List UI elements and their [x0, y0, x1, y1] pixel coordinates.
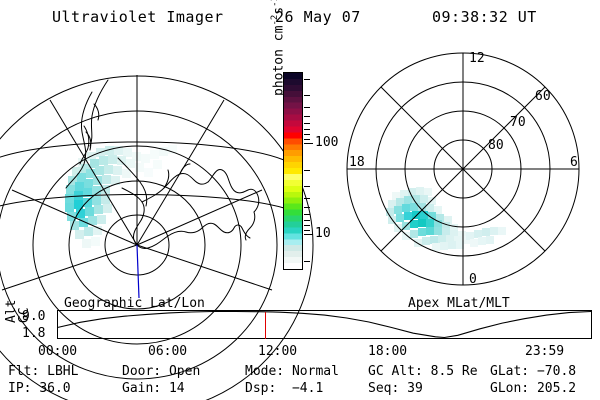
header-bar: Ultraviolet Imager 26 May 07 09:38:32 UT	[0, 8, 600, 32]
geographic-projection	[22, 40, 272, 298]
mlt-label-6: 6	[570, 155, 578, 170]
gc-alt-label-bottom: Alt	[4, 300, 19, 323]
current-time-marker	[265, 312, 266, 339]
colorbar-minor-tick	[304, 134, 310, 135]
colorbar-axis-sym: s	[271, 7, 286, 15]
colorbar-minor-tick	[304, 116, 310, 117]
status-row-1: Flt: LBHL Door: Open Mode: Normal GC Alt…	[0, 364, 600, 381]
colorbar-minor-tick	[304, 107, 310, 108]
time-tick-1: 06:00	[148, 344, 187, 359]
status-seq: Seq: 39	[368, 381, 423, 396]
status-dsp: Dsp: −4.1	[245, 381, 323, 396]
aurora-emission-mlt	[386, 187, 506, 251]
colorbar-minor-tick	[304, 261, 310, 262]
colorbar-minor-tick	[304, 129, 310, 130]
colorbar-minor-tick	[304, 230, 310, 231]
observation-date: 26 May 07	[275, 8, 361, 26]
colorbar-minor-tick	[304, 207, 310, 208]
observation-time: 09:38:32 UT	[432, 8, 537, 26]
mlt-label-0: 0	[469, 272, 477, 287]
status-gc-alt: GC Alt: 8.5 Re	[368, 364, 478, 379]
status-door: Door: Open	[122, 364, 200, 379]
mlt-polar-plot: 12 18 6 0 60 70 80	[332, 40, 594, 298]
mlt-label-18: 18	[349, 155, 365, 170]
colorbar-label-10: 10	[315, 227, 331, 240]
mlat-ring-label-70: 70	[510, 115, 526, 130]
geographic-image-panel[interactable]	[22, 40, 272, 298]
time-tick-2: 12:00	[258, 344, 297, 359]
colorbar-axis-exp1: -2	[270, 15, 280, 26]
status-mode: Mode: Normal	[245, 364, 339, 379]
gc-alt-tick-high: 9.0	[22, 309, 45, 324]
status-ip: IP: 36.0	[8, 381, 71, 396]
status-glon: GLon: 205.2	[490, 381, 576, 396]
altitude-curve	[58, 311, 591, 338]
left-panel-caption: Geographic Lat/Lon	[64, 296, 205, 311]
right-panel-caption: Apex MLat/MLT	[408, 296, 510, 311]
colorbar-gradient-box	[283, 72, 303, 270]
apex-mlt-dial-panel[interactable]: 12 18 6 0 60 70 80	[332, 40, 594, 298]
colorbar-minor-tick	[304, 220, 310, 221]
time-tick-4: 23:59	[525, 344, 564, 359]
colorbar-minor-tick	[304, 186, 310, 187]
colorbar-minor-tick	[304, 123, 310, 124]
colorbar-minor-tick	[304, 225, 310, 226]
gc-alt-tick-low: 1.8	[22, 326, 45, 341]
colorbar-minor-tick	[304, 95, 310, 96]
colorbar-gradient	[284, 73, 302, 269]
status-row-2: IP: 36.0 Gain: 14 Dsp: −4.1 Seq: 39 GLon…	[0, 381, 600, 398]
colorbar-axis-exp2: -1	[270, 0, 280, 7]
gc-alt-axis-label: GC Alt	[4, 306, 22, 340]
mlt-grid	[347, 53, 579, 285]
colorbar-minor-tick	[304, 139, 310, 140]
instrument-title: Ultraviolet Imager	[52, 8, 224, 26]
mlt-label-12: 12	[469, 51, 485, 66]
colorbar-minor-tick	[304, 234, 310, 235]
orbit-plot-box	[57, 310, 592, 339]
status-footer: Flt: LBHL Door: Open Mode: Normal GC Alt…	[0, 364, 600, 400]
colorbar[interactable]: photon cm-2s-1 100 10	[278, 40, 334, 298]
orbit-time-axis: 00:00 06:00 12:00 18:00 23:59	[0, 344, 600, 360]
time-tick-3: 18:00	[368, 344, 407, 359]
time-tick-0: 00:00	[38, 344, 77, 359]
colorbar-minor-tick	[304, 79, 310, 80]
colorbar-minor-tick	[304, 170, 310, 171]
status-flt: Flt: LBHL	[8, 364, 78, 379]
colorbar-minor-tick	[304, 214, 310, 215]
mlat-ring-label-80: 80	[488, 138, 504, 153]
colorbar-tick-100	[304, 143, 313, 144]
colorbar-minor-tick	[304, 198, 310, 199]
spacecraft-nadir-track	[137, 245, 139, 298]
status-glat: GLat: −70.8	[490, 364, 576, 379]
mlat-ring-label-60: 60	[535, 89, 551, 104]
status-gain: Gain: 14	[122, 381, 185, 396]
orbit-altitude-strip[interactable]: Geographic Lat/Lon Apex MLat/MLT GC Alt …	[0, 296, 600, 344]
